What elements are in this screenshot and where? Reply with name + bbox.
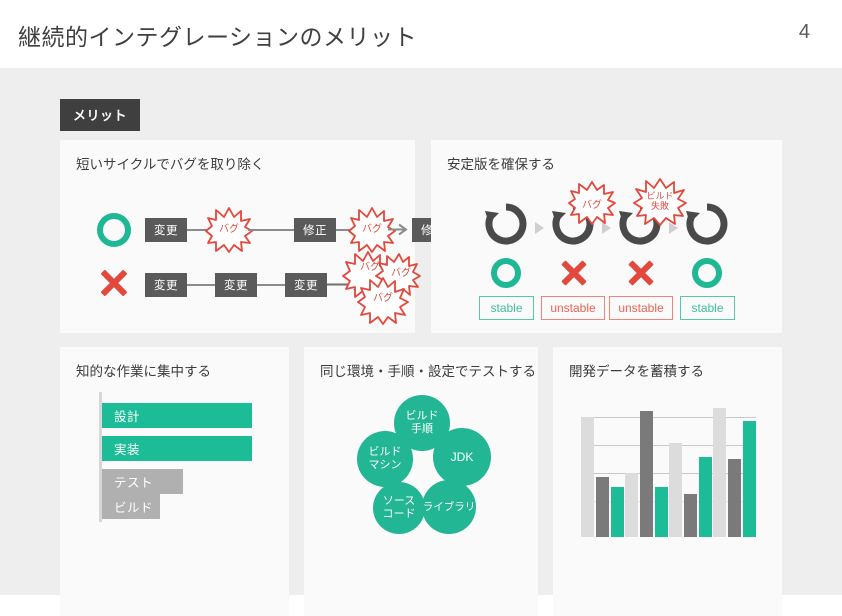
connector	[248, 229, 294, 231]
step-box-change-4: 変更	[285, 273, 327, 297]
slide: 継続的インテグレーションのメリット 4 メリット 短いサイクルでバグを取り除く …	[0, 0, 842, 595]
circle-ok-icon	[97, 213, 131, 247]
bubble-text: ライブラリ	[423, 501, 476, 513]
bubble-line2: 手順	[411, 423, 433, 435]
bubble-line1: ビルド	[369, 446, 402, 458]
chart-gridline	[581, 417, 756, 418]
bubble-line1: ライブラリ	[423, 501, 476, 513]
chart-bar	[596, 477, 609, 537]
burst-bug-1-label-wrap: バグ	[205, 207, 253, 253]
bubble-line2: マシン	[369, 459, 402, 471]
bubble-library: ライブラリ	[422, 480, 476, 534]
status-badge-stable-2: stable	[680, 296, 735, 320]
panel-short-cycle: 短いサイクルでバグを取り除く 変更 バグ 修正 バグ	[60, 140, 415, 333]
burst-label: バグ	[391, 264, 411, 279]
cross-ng-icon	[98, 267, 130, 299]
separator-triangle-icon	[535, 222, 544, 234]
arrow-icon	[388, 223, 412, 236]
step-box-change-2: 変更	[145, 273, 187, 297]
burst-bug-triple	[342, 246, 424, 326]
panel-test-environment-title: 同じ環境・手順・設定でテストする	[320, 360, 536, 380]
section-badge: メリット	[60, 99, 140, 131]
chart-bar	[581, 417, 594, 537]
bubble-text: ビルド マシン	[369, 446, 402, 472]
panel-focus-work: 知的な作業に集中する 設計 実装 テスト ビルド	[60, 347, 289, 616]
bubble-build-machine: ビルド マシン	[357, 431, 413, 487]
chart-bar	[728, 459, 741, 537]
page-number: 4	[799, 21, 810, 44]
bubble-line2: コード	[383, 508, 416, 520]
connector	[257, 284, 285, 286]
step-box-fix-1: 修正	[294, 218, 336, 242]
chart-bar	[699, 457, 712, 537]
focus-bar-design: 設計	[102, 403, 252, 428]
status-badge-stable-1: stable	[479, 296, 534, 320]
bubble-text: JDK	[451, 450, 474, 464]
focus-bar-build: ビルド	[102, 494, 160, 519]
slide-body: メリット 短いサイクルでバグを取り除く 変更 バグ 修正 バグ	[0, 68, 842, 595]
burst-label-line2: 失敗	[651, 202, 669, 212]
cycle-arrow-icon-4	[685, 202, 729, 246]
burst-label: バグ	[205, 207, 253, 253]
result-circle-ok-2	[692, 258, 722, 288]
bar-chart	[581, 397, 756, 537]
status-badge-unstable-2: unstable	[609, 296, 673, 320]
chart-bar	[713, 408, 726, 537]
focus-bar-implement: 実装	[102, 436, 252, 461]
chart-bar	[669, 443, 682, 537]
chart-bar	[655, 487, 668, 537]
status-badge-unstable-1: unstable	[541, 296, 605, 320]
chart-bar	[640, 411, 653, 537]
panel-focus-work-title: 知的な作業に集中する	[76, 360, 211, 380]
chart-bar	[684, 494, 697, 537]
burst-label-bug: バグ	[568, 181, 616, 225]
panel-accumulate-data-title: 開発データを蓄積する	[569, 360, 704, 380]
chart-bar	[611, 487, 624, 537]
bubble-text: ソース コード	[383, 495, 416, 521]
slide-header: 継続的インテグレーションのメリット 4	[0, 0, 842, 68]
bubble-jdk: JDK	[433, 428, 491, 486]
panel-stable-build-title: 安定版を確保する	[447, 153, 555, 173]
bubble-text: ビルド 手順	[406, 410, 439, 436]
result-circle-ok-1	[491, 258, 521, 288]
result-cross-ng-2	[626, 258, 656, 288]
focus-bar-test: テスト	[102, 469, 183, 494]
burst-label: バグ	[360, 258, 380, 273]
burst-label: バグ	[373, 289, 393, 304]
panel-test-environment: 同じ環境・手順・設定でテストする ビルド 手順 ビルド マシン JDK	[304, 347, 538, 616]
burst-label-build-fail: ビルド 失敗	[633, 178, 687, 226]
panel-accumulate-data: 開発データを蓄積する	[553, 347, 782, 616]
panel-short-cycle-title: 短いサイクルでバグを取り除く	[76, 153, 264, 173]
result-cross-ng-1	[559, 258, 589, 288]
bubble-source-code: ソース コード	[373, 482, 425, 534]
step-box-change-3: 変更	[215, 273, 257, 297]
connector	[187, 284, 215, 286]
chart-bar	[625, 473, 638, 537]
chart-bar	[743, 421, 756, 537]
bubble-line1: ビルド	[406, 410, 439, 422]
step-box-change-1: 変更	[145, 218, 187, 242]
bubble-line1: JDK	[451, 450, 474, 464]
cycle-arrow-icon-1	[484, 202, 528, 246]
bubble-line1: ソース	[383, 495, 415, 507]
page-title: 継続的インテグレーションのメリット	[18, 18, 417, 52]
panel-stable-build: 安定版を確保する	[431, 140, 782, 333]
